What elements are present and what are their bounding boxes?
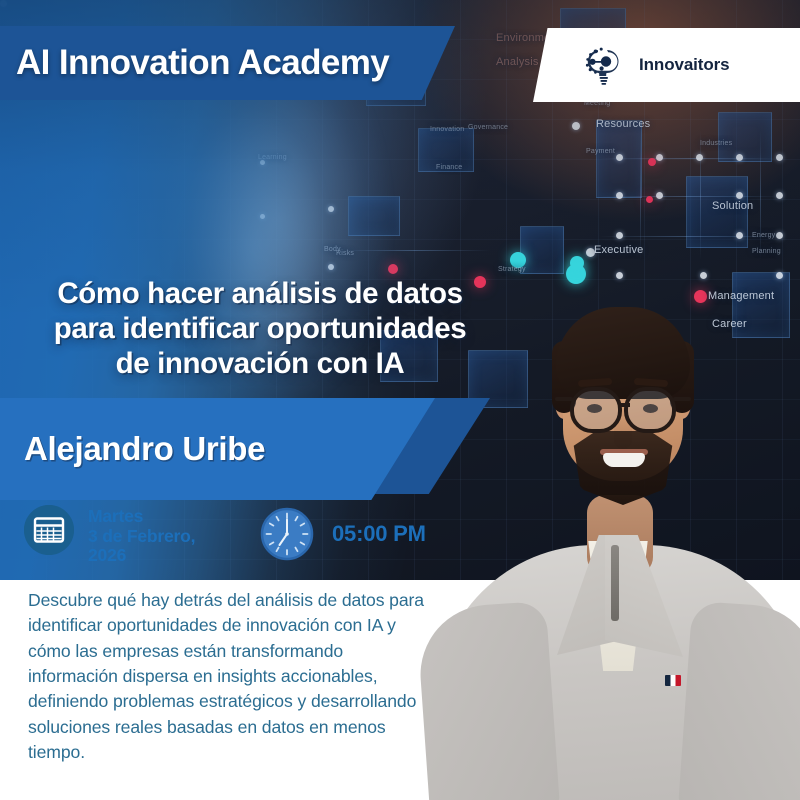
glasses-temple-right: [673, 397, 691, 401]
title-line-1: Cómo hacer análisis de datos: [0, 276, 520, 311]
page-title: Cómo hacer análisis de datos para identi…: [0, 276, 520, 381]
speaker-band: Alejandro Uribe: [0, 398, 435, 500]
sweater-arm-right: [678, 601, 800, 800]
event-date-group: Martes 3 de Febrero, 2026: [24, 505, 195, 566]
glasses-bridge: [620, 403, 630, 407]
event-date: Martes 3 de Febrero, 2026: [88, 505, 195, 566]
hair: [556, 307, 690, 399]
lightbulb-network-icon: [581, 42, 627, 88]
event-time: 05:00 PM: [332, 521, 426, 547]
mouth-teeth: [603, 453, 645, 467]
header-banner: AI Innovation Academy: [0, 26, 455, 100]
glasses-temple-left: [555, 397, 573, 401]
date-line-1: Martes: [88, 507, 195, 527]
event-description: Descubre qué hay detrás del análisis de …: [28, 588, 428, 765]
beard: [567, 431, 679, 505]
date-line-2: 3 de Febrero,: [88, 527, 195, 547]
flag-badge-icon: [665, 675, 681, 686]
glasses-lens-left: [570, 387, 622, 433]
zipper: [611, 545, 619, 621]
calendar-icon: [24, 505, 74, 555]
event-poster: Environment Analysis Resources Executive…: [0, 0, 800, 800]
event-time-group: 05:00 PM: [258, 505, 426, 563]
clock-icon: [258, 505, 316, 563]
sweater-arm-left: [416, 601, 560, 800]
title-line-2: para identificar oportunidades: [0, 311, 520, 346]
title-line-3: de innovación con IA: [0, 346, 520, 381]
date-line-3: 2026: [88, 546, 195, 566]
glasses-lens-right: [624, 387, 676, 433]
speaker-name: Alejandro Uribe: [24, 430, 265, 468]
header-title: AI Innovation Academy: [16, 43, 389, 83]
brand-name: Innovaitors: [639, 55, 730, 75]
brand-logo-panel[interactable]: Innovaitors: [533, 28, 800, 102]
